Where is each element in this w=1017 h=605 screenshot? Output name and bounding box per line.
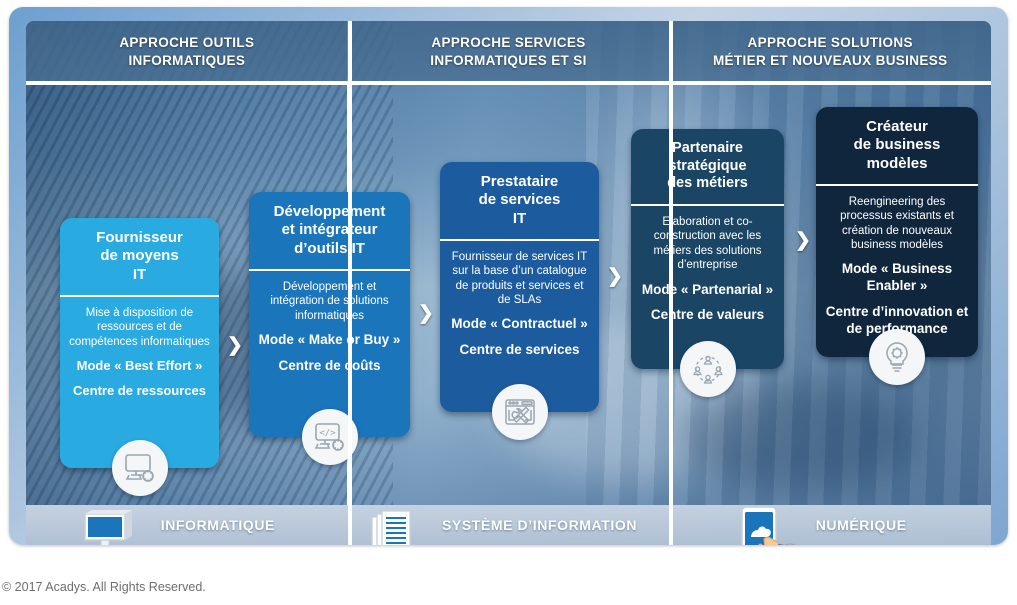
card-mode: Mode « Best Effort » bbox=[69, 358, 210, 374]
header-line-2: MÉTIER ET NOUVEAUX BUSINESS bbox=[713, 53, 947, 68]
card-center: Centre de services bbox=[449, 342, 590, 359]
card-title: Prestataire de services IT bbox=[440, 162, 599, 241]
card-title: Créateur de business modèles bbox=[816, 107, 978, 186]
card-center: Centre de coûts bbox=[258, 358, 401, 375]
header-line-2: INFORMATIQUES bbox=[128, 53, 245, 68]
card-title-line: modèles bbox=[867, 155, 928, 172]
card-title: Développement et intégrateur d’outils IT bbox=[249, 192, 410, 271]
chevron-right-icon: ❯ bbox=[607, 267, 623, 286]
chevron-right-icon: ❯ bbox=[795, 231, 811, 250]
card-title-line: IT bbox=[133, 266, 146, 283]
card-title-line: stratégique bbox=[668, 158, 746, 174]
card-developpement-integrateur-outils-it[interactable]: Développement et intégrateur d’outils IT… bbox=[249, 192, 410, 437]
legend-cell-numerique: NUMÉRIQUE bbox=[669, 505, 991, 545]
people-network-icon bbox=[680, 341, 736, 397]
footer-copyright: © 2017 Acadys. All Rights Reserved. bbox=[2, 580, 206, 594]
card-center: Centre de valeurs bbox=[640, 307, 775, 324]
header-line-2: INFORMATIQUES ET SI bbox=[430, 53, 586, 68]
svg-text:</>: </> bbox=[319, 429, 336, 439]
card-mode: Mode « Make or Buy » bbox=[258, 332, 401, 349]
monitor-gear-icon bbox=[112, 440, 168, 496]
card-description: Fournisseur de services IT sur la base d… bbox=[449, 250, 590, 308]
card-description: Elaboration et co-construction avec les … bbox=[640, 215, 775, 273]
card-partenaire-strategique-des-metiers[interactable]: Partenaire stratégique des métiers Elabo… bbox=[631, 129, 784, 369]
card-description: Reengineering des processus existants et… bbox=[825, 195, 969, 253]
card-title-line: et intégrateur bbox=[282, 221, 378, 238]
tablet-touch-icon bbox=[734, 504, 812, 545]
chevron-right-icon: ❯ bbox=[418, 304, 434, 323]
card-mode: Mode « Contractuel » bbox=[449, 316, 590, 333]
card-title-line: IT bbox=[513, 210, 526, 227]
header-approche-services: APPROCHE SERVICES INFORMATIQUES ET SI bbox=[348, 21, 670, 83]
header-strip: APPROCHE OUTILS INFORMATIQUES APPROCHE S… bbox=[26, 21, 991, 83]
card-prestataire-de-services-it[interactable]: Prestataire de services IT Fournisseur d… bbox=[440, 162, 599, 412]
card-title-line: Fournisseur bbox=[96, 229, 183, 246]
legend-label: NUMÉRIQUE bbox=[816, 517, 907, 533]
card-title: Partenaire stratégique des métiers bbox=[631, 129, 784, 206]
card-title-line: Créateur bbox=[866, 118, 928, 135]
card-mode: Mode « Business Enabler » bbox=[825, 261, 969, 295]
header-approche-outils: APPROCHE OUTILS INFORMATIQUES bbox=[26, 21, 348, 83]
diagram-frame: APPROCHE OUTILS INFORMATIQUES APPROCHE S… bbox=[9, 7, 1008, 545]
card-title-line: Prestataire bbox=[481, 173, 559, 190]
card-title: Fournisseur de moyens IT bbox=[60, 218, 219, 297]
card-title-line: de business bbox=[854, 136, 941, 153]
card-title-line: de services bbox=[479, 191, 561, 208]
card-center: Centre de ressources bbox=[69, 383, 210, 399]
browser-tools-icon bbox=[492, 384, 548, 440]
desktop-monitor-icon bbox=[71, 507, 137, 545]
documents-stack-icon bbox=[364, 507, 424, 545]
card-title-line: Développement bbox=[274, 203, 386, 220]
card-mode: Mode « Partenarial » bbox=[640, 282, 775, 299]
card-title-line: des métiers bbox=[667, 175, 748, 191]
lightbulb-gear-icon bbox=[869, 329, 925, 385]
header-line-1: APPROCHE OUTILS bbox=[119, 35, 254, 50]
chevron-right-icon: ❯ bbox=[227, 336, 243, 355]
header-approche-solutions: APPROCHE SOLUTIONS MÉTIER ET NOUVEAUX BU… bbox=[669, 21, 991, 83]
card-title-line: Partenaire bbox=[672, 140, 743, 156]
header-line-1: APPROCHE SOLUTIONS bbox=[748, 35, 913, 50]
photo-blur-blob bbox=[686, 381, 916, 491]
card-createur-de-business-modeles[interactable]: Créateur de business modèles Reengineeri… bbox=[816, 107, 978, 357]
card-description: Développement et intégration de solution… bbox=[258, 280, 401, 323]
legend-band: INFORMATIQUE SYSTÈME D’INFORMATION NUMÉR… bbox=[26, 505, 991, 545]
header-underline bbox=[26, 81, 991, 85]
header-line-1: APPROCHE SERVICES bbox=[431, 35, 585, 50]
legend-label: INFORMATIQUE bbox=[161, 517, 275, 533]
card-fournisseur-de-moyens-it[interactable]: Fournisseur de moyens IT Mise à disposit… bbox=[60, 218, 219, 468]
card-title-line: d’outils IT bbox=[294, 240, 365, 257]
card-title-line: de moyens bbox=[100, 247, 178, 264]
card-description: Mise à disposition de ressources et de c… bbox=[69, 306, 210, 349]
legend-label: SYSTÈME D’INFORMATION bbox=[442, 517, 637, 533]
